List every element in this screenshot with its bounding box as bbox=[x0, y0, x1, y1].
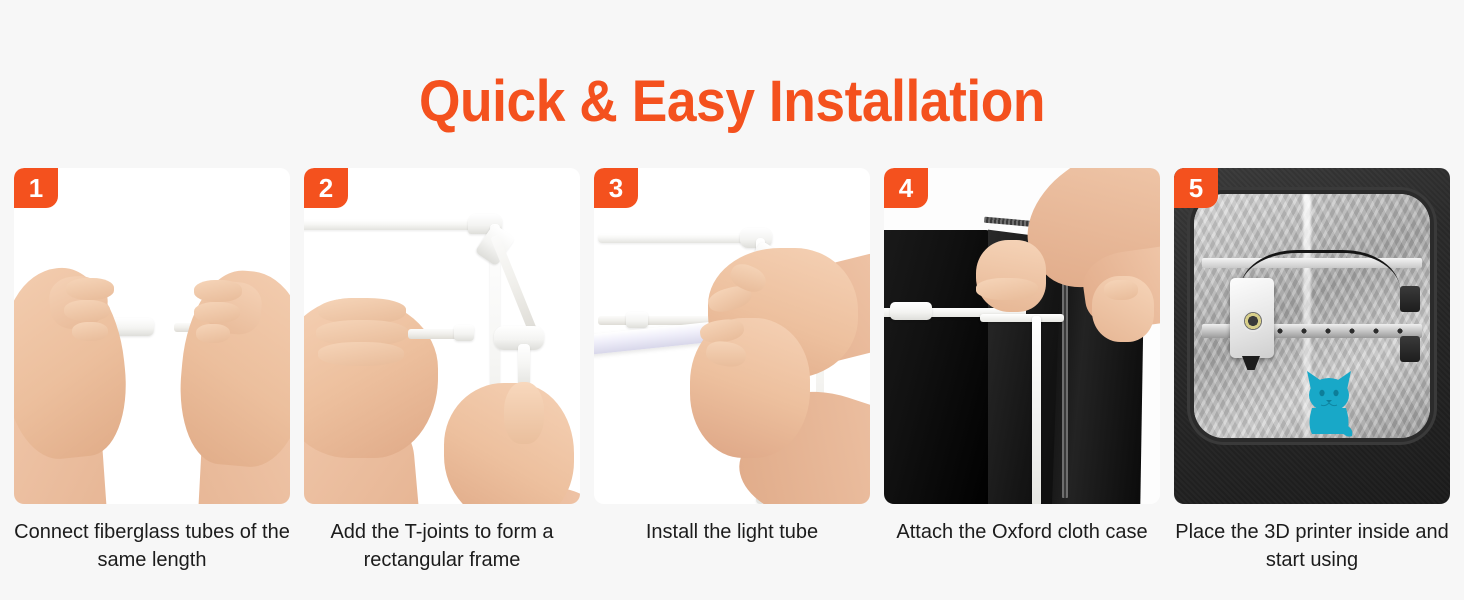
step-card-3: 3 Install the light tube bbox=[594, 168, 870, 574]
frame-top-horizontal-tube bbox=[598, 234, 750, 243]
left-middle-finger bbox=[316, 320, 408, 346]
lower-thumb bbox=[704, 339, 748, 370]
lower-forearm bbox=[729, 372, 870, 504]
step-caption-2: Add the T-joints to form a rectangular f… bbox=[304, 518, 580, 574]
rear-vertical-tube bbox=[816, 320, 824, 504]
right-middle-finger bbox=[194, 302, 240, 323]
scene-connect-tubes bbox=[14, 168, 290, 504]
window-clip-lower bbox=[1400, 336, 1420, 362]
zipper-top bbox=[984, 217, 1106, 234]
diagonal-brace-joint bbox=[746, 240, 781, 277]
step-badge-3: 3 bbox=[594, 168, 638, 208]
right-index-finger bbox=[194, 280, 242, 302]
printer-top-gantry bbox=[1202, 258, 1422, 268]
right-hand bbox=[174, 266, 290, 471]
oxford-cloth-side-panel bbox=[988, 224, 1118, 504]
tube-connector-sleeve bbox=[106, 318, 154, 336]
window-clip-upper bbox=[1400, 286, 1420, 312]
light-tube-end-cap bbox=[704, 330, 728, 350]
left-index-finger bbox=[318, 298, 406, 324]
zipper-side bbox=[1062, 238, 1068, 498]
right-forearm bbox=[1079, 243, 1160, 334]
oxford-cloth-front-panel bbox=[884, 230, 992, 504]
t-joint-stem-tube bbox=[518, 344, 530, 388]
left-hand bbox=[304, 298, 438, 458]
filament-cable bbox=[1240, 250, 1400, 290]
installation-banner: Quick & Easy Installation bbox=[0, 0, 1464, 600]
frame-vertical-tube bbox=[490, 224, 500, 504]
left-forearm bbox=[14, 394, 109, 504]
right-pinch-finger bbox=[1104, 280, 1138, 300]
upper-forearm bbox=[1003, 168, 1160, 312]
right-thumb bbox=[504, 382, 544, 444]
frame-top-horizontal-tube bbox=[304, 220, 476, 230]
oxford-cloth-open-flap bbox=[1052, 236, 1144, 504]
frame-vertical-tube bbox=[756, 238, 765, 504]
frame-middle-tube bbox=[598, 316, 748, 325]
enclosure-clear-window bbox=[1194, 194, 1430, 438]
step-caption-3: Install the light tube bbox=[594, 518, 870, 546]
step-photo-4: 4 bbox=[884, 168, 1160, 504]
upper-thumb bbox=[727, 260, 770, 297]
printer-toolhead bbox=[1230, 278, 1274, 358]
left-middle-finger bbox=[64, 300, 110, 321]
toolhead-fan-icon bbox=[1242, 310, 1264, 332]
upper-hand bbox=[708, 248, 858, 378]
left-thumb bbox=[72, 322, 108, 341]
step-badge-4: 4 bbox=[884, 168, 928, 208]
corner-elbow-joint bbox=[468, 214, 502, 234]
led-light-tube bbox=[594, 320, 727, 355]
page-title: Quick & Easy Installation bbox=[59, 68, 1406, 136]
step-card-2: 2 Add the T-joints to form a rectangular… bbox=[304, 168, 580, 574]
rail-screws bbox=[1274, 328, 1414, 334]
right-hand bbox=[1092, 276, 1154, 342]
step-photo-2: 2 bbox=[304, 168, 580, 504]
diagonal-brace-tube bbox=[490, 234, 537, 334]
photo-backdrop bbox=[884, 168, 1160, 504]
upper-hand bbox=[976, 240, 1046, 312]
enclosure-cloth-body bbox=[1174, 168, 1450, 504]
upper-fingers bbox=[976, 278, 1038, 300]
left-ring-finger bbox=[318, 342, 404, 366]
step-caption-5: Place the 3D printer inside and start us… bbox=[1174, 518, 1450, 574]
step-caption-1: Connect fiberglass tubes of the same len… bbox=[14, 518, 290, 574]
step-card-1: 1 Connect fiberglass tubes of the same l… bbox=[14, 168, 290, 574]
left-index-finger bbox=[66, 278, 114, 300]
step-badge-5: 5 bbox=[1174, 168, 1218, 208]
rear-tube-sleeve bbox=[752, 426, 766, 458]
right-forearm bbox=[456, 488, 580, 504]
t-joint-middle bbox=[494, 326, 544, 350]
rail-sleeve-left bbox=[890, 302, 932, 320]
scene-attach-oxford-cloth bbox=[884, 168, 1160, 504]
frame-horizontal-rail bbox=[884, 308, 1026, 317]
step-photo-1: 1 bbox=[14, 168, 290, 504]
teal-cat-print-model bbox=[1298, 364, 1360, 438]
fiberglass-tube-left bbox=[58, 323, 116, 332]
reflective-side-lining bbox=[1062, 250, 1140, 500]
lower-index-finger bbox=[699, 317, 746, 345]
step-badge-2: 2 bbox=[304, 168, 348, 208]
held-tube-end-cap bbox=[454, 325, 474, 341]
corner-elbow-joint bbox=[740, 228, 772, 248]
step-photo-3: 3 bbox=[594, 168, 870, 504]
scene-printer-inside-enclosure bbox=[1174, 168, 1450, 504]
step-photo-5: 5 bbox=[1174, 168, 1450, 504]
step-caption-4: Attach the Oxford cloth case bbox=[884, 518, 1160, 546]
right-hand bbox=[444, 383, 574, 504]
left-forearm bbox=[304, 411, 425, 504]
installation-steps-list: 1 Connect fiberglass tubes of the same l… bbox=[14, 168, 1450, 574]
foil-seam bbox=[1303, 194, 1311, 438]
reflective-inner-lining bbox=[992, 246, 1054, 504]
diagonal-brace-joint bbox=[475, 224, 516, 267]
step-badge-1: 1 bbox=[14, 168, 58, 208]
right-thumb bbox=[196, 324, 230, 343]
middle-tube-sleeve bbox=[626, 312, 648, 328]
right-forearm bbox=[196, 401, 290, 504]
fiberglass-tube-right bbox=[174, 323, 260, 332]
lower-hand bbox=[690, 318, 810, 458]
printer-nozzle bbox=[1242, 356, 1260, 370]
step-card-4: 4 Attach the Oxford cloth case bbox=[884, 168, 1160, 574]
foil-backdrop bbox=[1194, 194, 1430, 438]
upper-forearm bbox=[751, 247, 870, 376]
held-fiberglass-tube bbox=[408, 329, 470, 339]
scene-install-light-tube bbox=[594, 168, 870, 504]
step-card-5: 5 Place the 3D printer inside and start … bbox=[1174, 168, 1450, 574]
printer-x-axis-rail bbox=[1202, 324, 1422, 338]
left-hand bbox=[14, 262, 134, 464]
frame-corner-vertical bbox=[1032, 316, 1041, 504]
frame-inner-rail bbox=[980, 314, 1064, 322]
scene-t-joint-frame bbox=[304, 168, 580, 504]
upper-index-finger bbox=[706, 282, 754, 315]
